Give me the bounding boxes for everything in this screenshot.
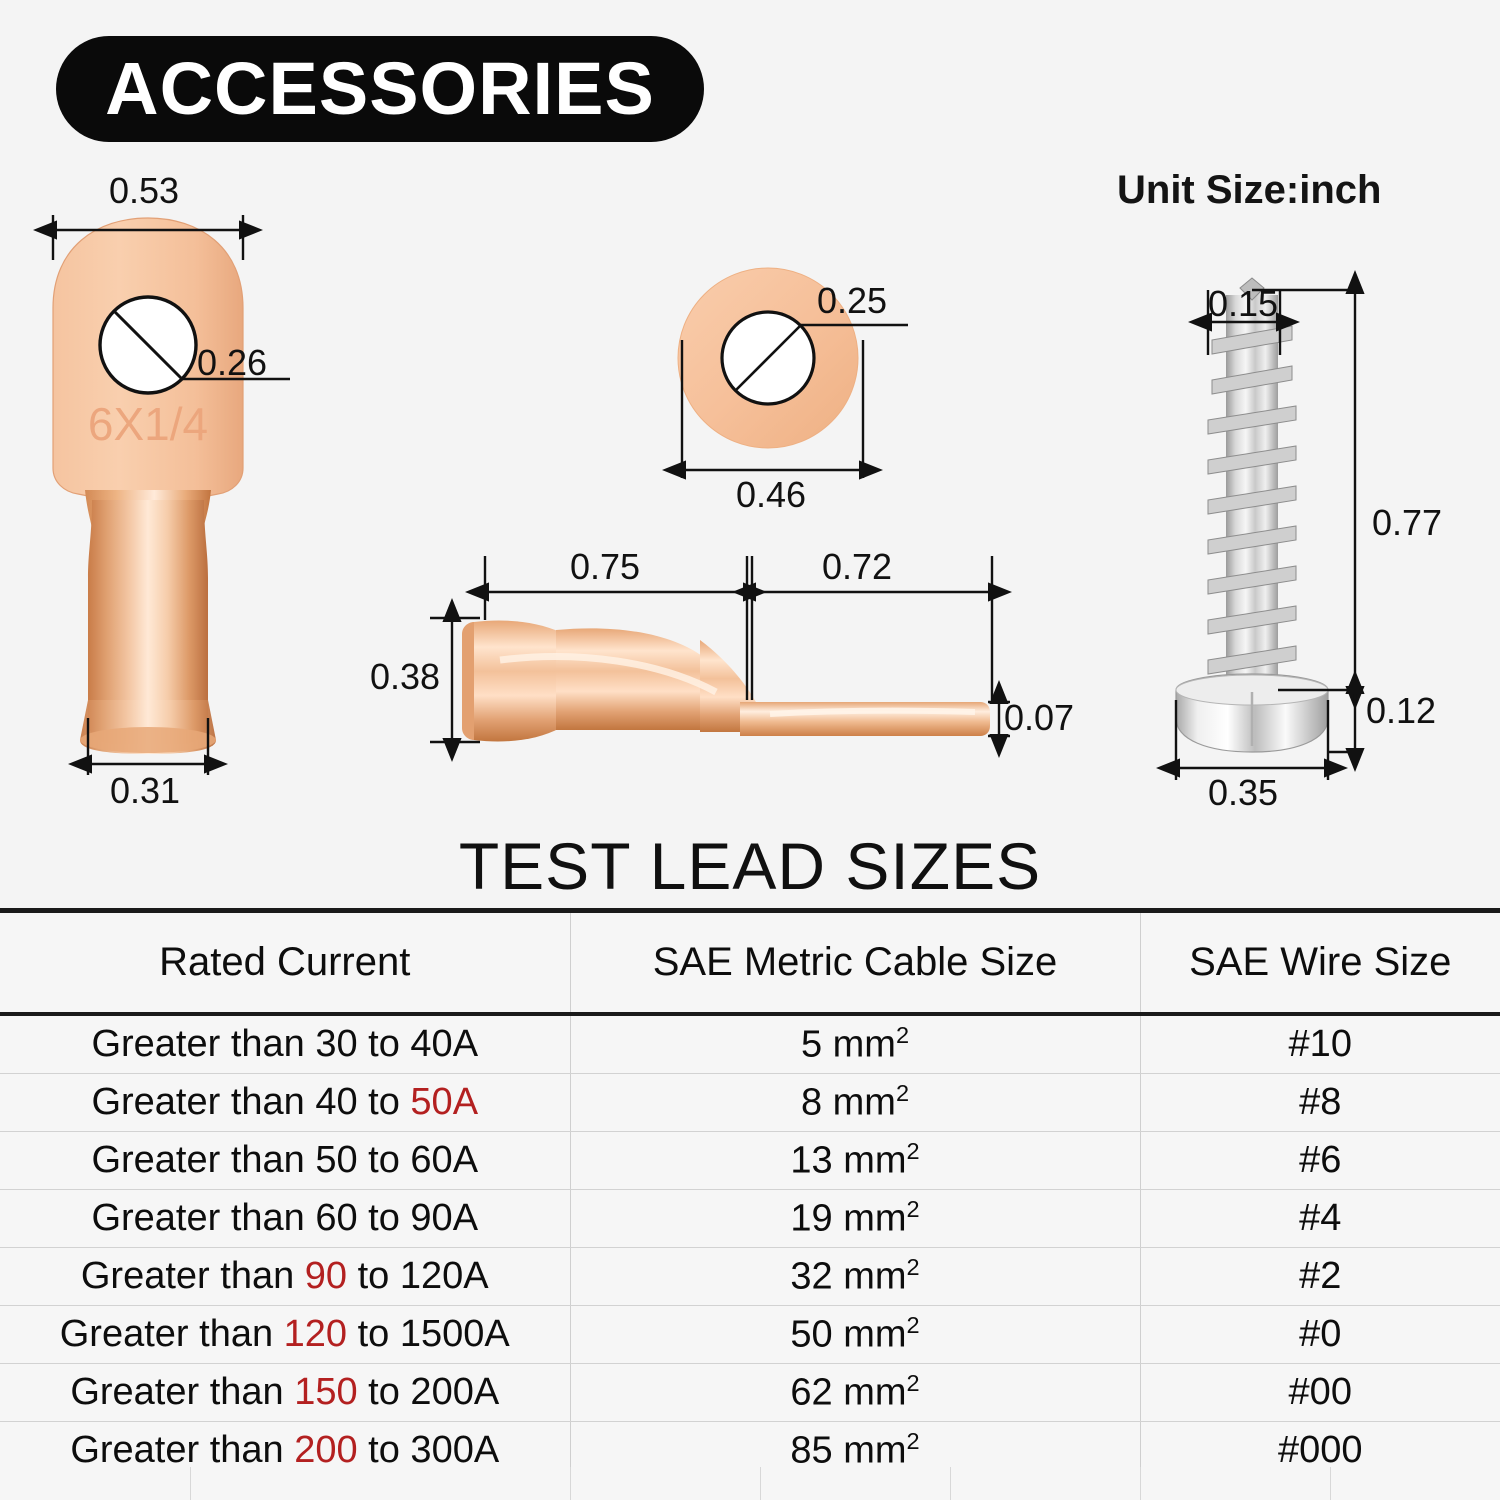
accessories-badge: ACCESSORIES [56,36,704,142]
rated-current-prefix: Greater than 40 to [91,1081,410,1123]
rated-current-highlight: 150 [294,1371,357,1413]
rated-current-suffix: 60A [410,1139,478,1181]
cable-size-exponent: 2 [907,1138,920,1164]
cell-cable-size: 8 mm2 [570,1074,1140,1132]
dimension-hole-diameter: 0.26 [197,342,267,384]
cable-size-unit: mm [843,1256,906,1298]
cell-wire-size: #0 [1140,1306,1500,1364]
rated-current-highlight: 50A [410,1081,478,1123]
column-header-cable-size: SAE Metric Cable Size [570,911,1140,1015]
cell-cable-size: 32 mm2 [570,1248,1140,1306]
table-header-row: Rated Current SAE Metric Cable Size SAE … [0,911,1500,1015]
cable-size-exponent: 2 [896,1022,909,1048]
rated-current-prefix: Greater than [70,1371,294,1413]
cell-wire-size: #4 [1140,1190,1500,1248]
dimension-thread-diameter: 0.15 [1208,283,1278,325]
cable-size-unit: mm [843,1430,906,1472]
cable-size-exponent: 2 [907,1312,920,1338]
dimension-tongue-thickness: 0.07 [1004,697,1074,739]
dimension-barrel-height: 0.38 [370,656,440,698]
cable-size-exponent: 2 [907,1254,920,1280]
cell-cable-size: 50 mm2 [570,1306,1140,1364]
cable-size-unit: mm [833,1082,896,1124]
cable-size-value: 85 [790,1430,832,1472]
cable-size-unit: mm [843,1314,906,1356]
cable-size-value: 13 [790,1140,832,1182]
table-row: Greater than 120 to 1500A50 mm2#0 [0,1306,1500,1364]
cell-wire-size: #2 [1140,1248,1500,1306]
cell-cable-size: 19 mm2 [570,1190,1140,1248]
column-header-rated-current: Rated Current [0,911,570,1015]
cable-size-exponent: 2 [907,1370,920,1396]
cell-rated-current: Greater than 120 to 1500A [0,1306,570,1364]
cell-cable-size: 13 mm2 [570,1132,1140,1190]
cable-size-unit: mm [843,1198,906,1240]
cell-rated-current: Greater than 40 to 50A [0,1074,570,1132]
cable-size-value: 5 [801,1024,822,1066]
rated-current-suffix: to 300A [358,1429,500,1471]
rated-current-suffix: to 1500A [347,1313,510,1355]
column-header-wire-size: SAE Wire Size [1140,911,1500,1015]
cell-wire-size: #10 [1140,1014,1500,1074]
lug-emboss-label: 6X1/4 [88,398,208,450]
dimension-tongue-length: 0.72 [822,546,892,588]
cell-wire-size: #00 [1140,1364,1500,1422]
rated-current-prefix: Greater than [70,1429,294,1471]
rated-current-suffix: to 200A [358,1371,500,1413]
rated-current-suffix: to 120A [347,1255,489,1297]
cell-rated-current: Greater than 90 to 120A [0,1248,570,1306]
dimension-head-height: 0.12 [1366,690,1436,732]
cell-wire-size: #6 [1140,1132,1500,1190]
accessories-badge-label: ACCESSORIES [105,52,655,126]
screw-dimensions [1176,290,1360,780]
cable-size-unit: mm [843,1140,906,1182]
cable-size-value: 32 [790,1256,832,1298]
rated-current-prefix: Greater than 30 to [91,1023,410,1065]
cell-rated-current: Greater than 60 to 90A [0,1190,570,1248]
copper-ring-terminal-side-view [462,620,990,741]
unit-size-note: Unit Size:inch [1117,168,1381,213]
dimension-barrel-width: 0.31 [110,770,180,812]
test-lead-sizes-table: Rated Current SAE Metric Cable Size SAE … [0,908,1500,1484]
rated-current-prefix: Greater than 60 to [91,1197,410,1239]
cell-rated-current: Greater than 30 to 40A [0,1014,570,1074]
cable-size-exponent: 2 [896,1080,909,1106]
cell-cable-size: 62 mm2 [570,1364,1140,1422]
cable-size-exponent: 2 [907,1196,920,1222]
cable-size-value: 19 [790,1198,832,1240]
table-row: Greater than 90 to 120A32 mm2#2 [0,1248,1500,1306]
table-row: Greater than 30 to 40A5 mm2#10 [0,1014,1500,1074]
cable-size-value: 8 [801,1082,822,1124]
table-bottom-strip [0,1467,1500,1500]
rated-current-highlight: 200 [294,1429,357,1471]
copper-ring-terminal-front-view: 6X1/4 [53,218,243,754]
dimension-washer-inner-diameter: 0.25 [817,280,887,322]
rated-current-highlight: 120 [284,1313,347,1355]
rated-current-prefix: Greater than [60,1313,284,1355]
table-row: Greater than 150 to 200A62 mm2#00 [0,1364,1500,1422]
cable-size-unit: mm [843,1372,906,1414]
table-row: Greater than 50 to 60A13 mm2#6 [0,1132,1500,1190]
cell-rated-current: Greater than 150 to 200A [0,1364,570,1422]
self-tapping-screw-side-view [1176,278,1328,752]
accessories-spec-sheet: ACCESSORIES Unit Size:inch [0,0,1500,1500]
dimension-thread-length: 0.77 [1372,502,1442,544]
cell-rated-current: Greater than 50 to 60A [0,1132,570,1190]
cable-size-value: 62 [790,1372,832,1414]
dimension-barrel-length: 0.75 [570,546,640,588]
table-row: Greater than 60 to 90A19 mm2#4 [0,1190,1500,1248]
test-lead-sizes-title: TEST LEAD SIZES [0,828,1500,904]
dimension-washer-outer-diameter: 0.46 [736,474,806,516]
cell-wire-size: #8 [1140,1074,1500,1132]
cable-size-unit: mm [833,1024,896,1066]
side-view-dimensions [430,556,1010,742]
cable-size-value: 50 [790,1314,832,1356]
washer-dimensions [682,325,908,478]
table-row: Greater than 40 to 50A8 mm2#8 [0,1074,1500,1132]
cable-size-exponent: 2 [907,1428,920,1454]
rated-current-highlight: 90 [305,1255,347,1297]
rated-current-suffix: 90A [410,1197,478,1239]
rated-current-suffix: 40A [410,1023,478,1065]
dimension-head-diameter: 0.35 [1208,772,1278,814]
rated-current-prefix: Greater than [81,1255,305,1297]
dimension-pad-width: 0.53 [109,170,179,212]
cell-cable-size: 5 mm2 [570,1014,1140,1074]
front-view-dimensions [53,215,290,775]
rated-current-prefix: Greater than 50 to [91,1139,410,1181]
